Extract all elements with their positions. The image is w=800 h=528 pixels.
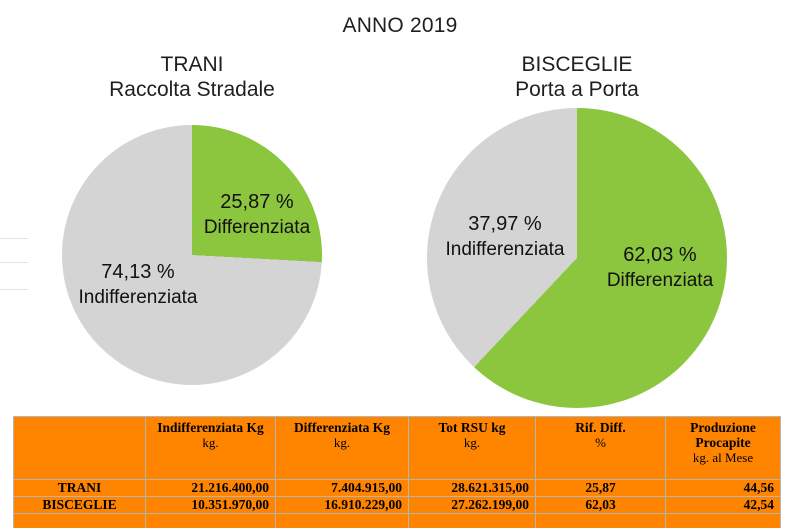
table-row: BISCEGLIE 10.351.970,00 16.910.229,00 27… bbox=[14, 497, 781, 514]
table-header-indifferenziata-unit: kg. bbox=[148, 435, 273, 450]
pie-label-bisceglie-indifferenziata: 37,97 % Indifferenziata bbox=[425, 212, 585, 262]
pie-percent-bisceglie-differenziata: 62,03 % bbox=[575, 243, 745, 269]
table-header-rif-diff-unit: % bbox=[538, 435, 663, 450]
table-header-differenziata-main: Differenziata Kg bbox=[294, 420, 390, 435]
table-cell-indifferenziata: 21.216.400,00 bbox=[146, 480, 276, 497]
table-cell-empty bbox=[536, 514, 666, 528]
gridline-fragment bbox=[0, 289, 28, 290]
table-header-blank bbox=[14, 417, 146, 480]
chart-city-trani: TRANI bbox=[161, 53, 224, 76]
pie-chart-trani bbox=[62, 125, 322, 385]
table-cell-differenziata: 7.404.915,00 bbox=[276, 480, 409, 497]
pie-label-bisceglie-differenziata: 62,03 % Differenziata bbox=[575, 243, 745, 293]
table-cell-empty bbox=[409, 514, 536, 528]
table-header-rif-diff: Rif. Diff. % bbox=[536, 417, 666, 480]
table-cell-tot-rsu: 28.621.315,00 bbox=[409, 480, 536, 497]
table-header-differenziata: Differenziata Kg kg. bbox=[276, 417, 409, 480]
table-cell-rif-diff: 62,03 bbox=[536, 497, 666, 514]
table-cell-procapite: 44,56 bbox=[666, 480, 781, 497]
report-page: ANNO 2019 TRANI Raccolta Stradale 25,87 … bbox=[0, 0, 800, 528]
pie-label-trani-differenziata: 25,87 % Differenziata bbox=[182, 190, 332, 240]
table-header-procapite-main: Produzione Procapite bbox=[690, 420, 756, 450]
table-header-procapite: Produzione Procapite kg. al Mese bbox=[666, 417, 781, 480]
table-header-indifferenziata-main: Indifferenziata Kg bbox=[157, 420, 264, 435]
table-cell-empty bbox=[146, 514, 276, 528]
pie-label-trani-indifferenziata: 74,13 % Indifferenziata bbox=[58, 260, 218, 310]
table-header-differenziata-unit: kg. bbox=[278, 435, 406, 450]
gridline-fragment bbox=[0, 262, 28, 263]
page-title: ANNO 2019 bbox=[0, 14, 800, 38]
table-header-row: Indifferenziata Kg kg. Differenziata Kg … bbox=[14, 417, 781, 480]
summary-table: Indifferenziata Kg kg. Differenziata Kg … bbox=[13, 416, 781, 528]
chart-subtitle-trani: Raccolta Stradale bbox=[62, 77, 322, 102]
pie-name-bisceglie-indifferenziata: Indifferenziata bbox=[425, 238, 585, 262]
pie-name-trani-indifferenziata: Indifferenziata bbox=[58, 286, 218, 310]
table-header-tot-rsu-unit: kg. bbox=[411, 435, 533, 450]
table-row-empty bbox=[14, 514, 781, 528]
table-cell-city: BISCEGLIE bbox=[14, 497, 146, 514]
table-row: TRANI 21.216.400,00 7.404.915,00 28.621.… bbox=[14, 480, 781, 497]
pie-name-bisceglie-differenziata: Differenziata bbox=[575, 269, 745, 293]
chart-title-bisceglie: BISCEGLIE Porta a Porta bbox=[447, 52, 707, 102]
table-header-tot-rsu: Tot RSU kg kg. bbox=[409, 417, 536, 480]
gridline-fragment bbox=[0, 238, 28, 239]
table-header-indifferenziata: Indifferenziata Kg kg. bbox=[146, 417, 276, 480]
table-cell-rif-diff: 25,87 bbox=[536, 480, 666, 497]
table-cell-differenziata: 16.910.229,00 bbox=[276, 497, 409, 514]
table-cell-indifferenziata: 10.351.970,00 bbox=[146, 497, 276, 514]
table-cell-empty bbox=[666, 514, 781, 528]
table-header-tot-rsu-main: Tot RSU kg bbox=[438, 420, 505, 435]
pie-name-trani-differenziata: Differenziata bbox=[182, 216, 332, 240]
chart-title-trani: TRANI Raccolta Stradale bbox=[62, 52, 322, 102]
table-cell-procapite: 42,54 bbox=[666, 497, 781, 514]
table-header-procapite-unit: kg. al Mese bbox=[668, 450, 778, 465]
pie-percent-trani-differenziata: 25,87 % bbox=[182, 190, 332, 216]
table-cell-tot-rsu: 27.262.199,00 bbox=[409, 497, 536, 514]
chart-city-bisceglie: BISCEGLIE bbox=[522, 53, 633, 76]
pie-percent-bisceglie-indifferenziata: 37,97 % bbox=[425, 212, 585, 238]
pie-percent-trani-indifferenziata: 74,13 % bbox=[58, 260, 218, 286]
chart-subtitle-bisceglie: Porta a Porta bbox=[447, 77, 707, 102]
table-cell-city: TRANI bbox=[14, 480, 146, 497]
table-cell-empty bbox=[276, 514, 409, 528]
table-cell-empty bbox=[14, 514, 146, 528]
table-header-rif-diff-main: Rif. Diff. bbox=[575, 420, 626, 435]
